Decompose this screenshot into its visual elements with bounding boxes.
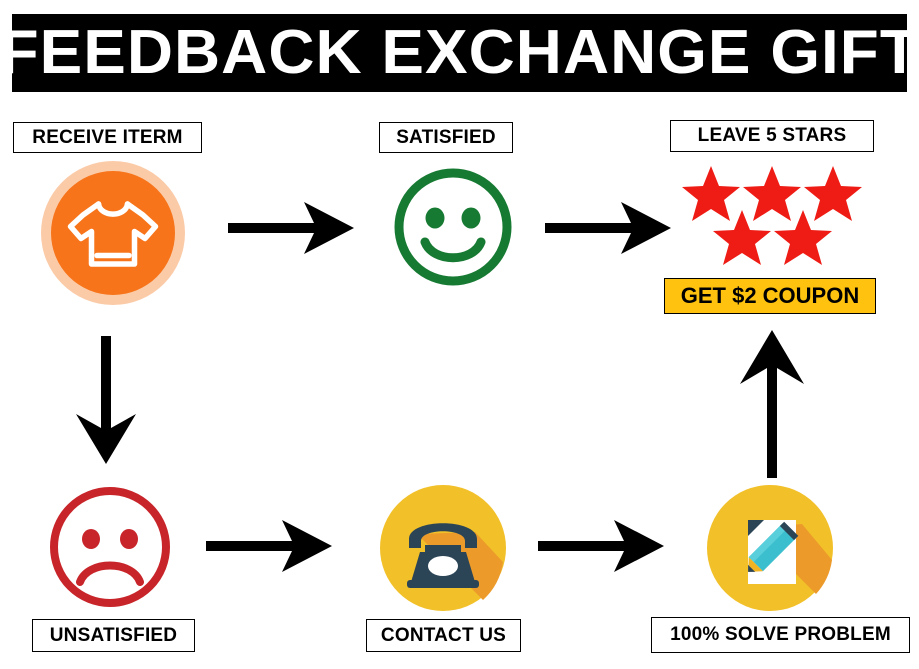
label-solve-problem: 100% SOLVE PROBLEM xyxy=(651,617,910,653)
tshirt-icon xyxy=(40,160,186,306)
arrow-unsatisfied-to-contact-icon xyxy=(206,518,332,574)
get-coupon-badge[interactable]: GET $2 COUPON xyxy=(664,278,876,314)
label-contact-us: CONTACT US xyxy=(366,619,521,652)
label-solve-problem-text: 100% SOLVE PROBLEM xyxy=(670,624,891,646)
five-stars-icon xyxy=(676,164,873,268)
get-coupon-label: GET $2 COUPON xyxy=(681,283,859,309)
title-banner: FEEDBACK EXCHANGE GIFT xyxy=(12,14,907,92)
label-receive-item: RECEIVE ITERM xyxy=(13,122,202,153)
arrow-solve-to-coupon-icon xyxy=(736,330,808,478)
label-contact-us-text: CONTACT US xyxy=(381,625,506,647)
sad-face-icon xyxy=(47,484,173,610)
arrow-receive-to-unsatisfied-icon xyxy=(72,336,140,464)
label-receive-item-text: RECEIVE ITERM xyxy=(32,127,182,149)
document-pencil-icon xyxy=(706,484,834,612)
arrow-satisfied-to-stars-icon xyxy=(545,200,671,256)
label-unsatisfied-text: UNSATISFIED xyxy=(50,625,177,647)
label-unsatisfied: UNSATISFIED xyxy=(32,619,195,652)
label-leave-5-stars-text: LEAVE 5 STARS xyxy=(698,125,847,147)
telephone-icon xyxy=(379,484,507,612)
page-title: FEEDBACK EXCHANGE GIFT xyxy=(0,22,919,84)
arrow-receive-to-satisfied-icon xyxy=(228,200,354,256)
label-leave-5-stars: LEAVE 5 STARS xyxy=(670,120,874,152)
arrow-contact-to-solve-icon xyxy=(538,518,664,574)
label-satisfied-text: SATISFIED xyxy=(396,127,496,149)
feedback-exchange-infographic: FEEDBACK EXCHANGE GIFT RECEIVE ITERM SAT… xyxy=(0,0,919,669)
smiley-face-icon xyxy=(392,166,514,288)
label-satisfied: SATISFIED xyxy=(379,122,513,153)
